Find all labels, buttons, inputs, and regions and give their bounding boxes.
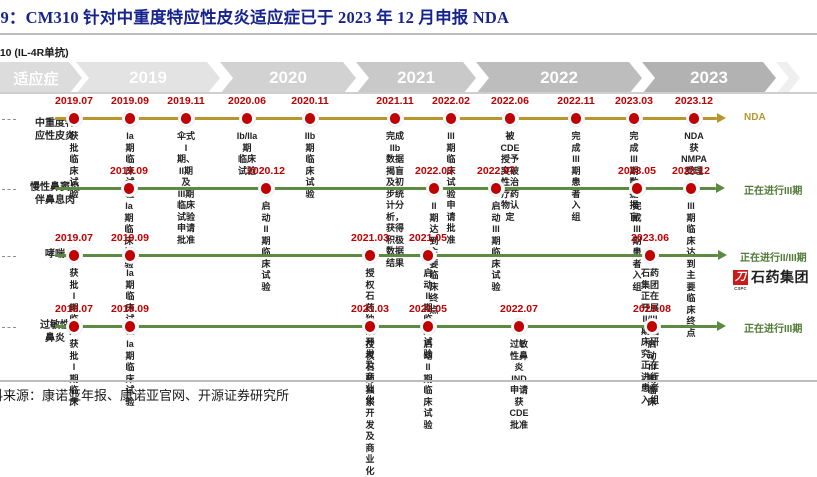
source-note: 料来源：康诺亚年报、康诺亚官网、开源证券研究所 — [0, 385, 289, 404]
milestone-description-line: 启动II期 — [423, 339, 432, 385]
milestone-description-line: NDA获 — [681, 131, 707, 154]
milestone-node[interactable]: 2020.12启动II期临床试验 — [258, 180, 275, 197]
cspc-wordmark: 石药集团 — [751, 267, 809, 287]
milestone-node[interactable]: 2021.03授权石药独家开发及商业化 — [362, 247, 379, 264]
milestone-description-line: 及商业化 — [365, 431, 374, 477]
milestone-description-line: 临床试验 — [423, 385, 432, 431]
milestone-date: 2021.05 — [409, 303, 447, 315]
row-label: 慢性鼻窦炎伴鼻息肉 — [22, 181, 88, 207]
milestone-description-line: 试验申请批准 — [177, 212, 195, 247]
milestone-node[interactable]: 2022.11完成III期患者入组 — [568, 110, 585, 127]
row-status-label: 正在进行III期 — [744, 182, 802, 197]
row-connector-dash — [2, 189, 16, 190]
milestone-date: 2022.02 — [432, 95, 470, 107]
milestone-description: 完成III期患者入组 — [571, 131, 580, 223]
milestone-date: 2019.09 — [110, 165, 148, 177]
milestone-date: 2023.06 — [631, 232, 669, 244]
milestone-description-line: III期临床达到 — [686, 201, 695, 270]
milestone-node[interactable]: 2019.07获批临床试验 — [66, 110, 83, 127]
milestone-date: 2023.03 — [615, 95, 653, 107]
milestone-node[interactable]: 2020.11IIb期临床试验 — [302, 110, 319, 127]
milestone-description: 完成IIb数据揭盲及初步统计分析，获得积极数据结果 — [386, 131, 404, 269]
cspc-mark-glyph: 刀 — [735, 272, 746, 283]
year-label: 2021 — [397, 68, 435, 88]
milestone-node[interactable]: 2022.06被CDE授予突破性治疗药物认定 — [502, 110, 519, 127]
year-chevron-2019: 2019 — [76, 62, 220, 94]
milestone-date: 2022.07 — [500, 303, 538, 315]
cspc-mark-caption: CSPC — [733, 286, 748, 291]
year-band-baseline — [0, 92, 817, 94]
milestone-description-line: 授权石药 — [365, 339, 374, 385]
row-connector-dash — [2, 327, 16, 328]
milestone-date: 2022.03 — [415, 165, 453, 177]
row-axis-line — [55, 325, 717, 328]
milestone-description: 过敏性鼻炎IND申请获CDE 批准 — [510, 339, 529, 431]
year-chevron-2020: 2020 — [220, 62, 356, 94]
milestone-description-line: 启动III期临床 — [647, 339, 656, 408]
milestone-date: 2021.03 — [351, 303, 389, 315]
milestone-date: 2019.09 — [111, 95, 149, 107]
milestone-description-line: 伞式I期、II期 — [177, 131, 195, 177]
milestone-node[interactable]: 2021.05启动II期临床试验 — [420, 247, 437, 264]
row-connector-dash — [2, 119, 16, 120]
milestone-description-line: 获得积极数据结果 — [386, 223, 404, 269]
title-divider — [0, 33, 817, 35]
milestone-description-line: 启动II期 — [261, 201, 270, 247]
row-axis-line — [55, 187, 716, 190]
milestone-node[interactable]: 2023.06石药集团正在开展II/III期临床研究，正在进行患者入组 — [642, 247, 659, 264]
milestone-node[interactable]: 2019.07获批I期临床 — [66, 247, 83, 264]
indication-header-chevron: 适应症 — [0, 62, 82, 94]
milestone-date: 2019.07 — [55, 232, 93, 244]
milestone-description-line: 主要临床终点 — [686, 270, 695, 339]
milestone-date: 2019.09 — [111, 232, 149, 244]
row-axis-arrowhead — [718, 250, 727, 260]
row-status-label: NDA — [744, 112, 766, 123]
milestone-node[interactable]: 2023.08启动III期临床 — [644, 318, 661, 335]
figure-canvas: 29：CM310 针对中重度特应性皮炎适应症已于 2023 年 12 月申报 N… — [0, 0, 817, 407]
milestone-date: 2023.08 — [633, 303, 671, 315]
milestone-node[interactable]: 2023.03完成III期数据揭盲 — [626, 110, 643, 127]
milestone-node[interactable]: 2023.12NDA获NMPA受理 — [686, 110, 703, 127]
row-connector-dash — [2, 256, 16, 257]
milestone-date: 2023.12 — [675, 95, 713, 107]
milestone-date: 2021.05 — [409, 232, 447, 244]
milestone-node[interactable]: 2022.07启动III期临床试验 — [488, 180, 505, 197]
row-status-label: 正在进行II/III期 — [740, 249, 807, 264]
milestone-date: 2019.07 — [55, 95, 93, 107]
milestone-node[interactable]: 2022.07过敏性鼻炎IND申请获CDE 批准 — [511, 318, 528, 335]
milestone-description-line: 过敏性鼻炎IND — [510, 339, 529, 385]
indication-header-label: 适应症 — [13, 68, 58, 89]
milestone-description-line: Ib/IIa期 — [237, 131, 258, 154]
row-label-line2: 伴鼻息肉 — [22, 194, 88, 207]
milestone-date: 2022.07 — [477, 165, 515, 177]
milestone-date: 2020.12 — [247, 165, 285, 177]
milestone-node[interactable]: 2021.03授权石药独家开发及商业化 — [362, 318, 379, 335]
milestone-description-line: 独家开发 — [365, 385, 374, 431]
year-label: 2022 — [540, 68, 578, 88]
milestone-description-line: IIb期临 — [305, 131, 316, 166]
milestone-description: 启动III期临床试验 — [491, 201, 500, 293]
milestone-node[interactable]: 2019.09Ia期临床试验 — [122, 318, 139, 335]
milestone-node[interactable]: 2019.09Ia期临床试验 — [121, 180, 138, 197]
milestone-description: 授权石药独家开发及商业化 — [365, 339, 374, 477]
cspc-logo: 刀CSPC石药集团 — [733, 267, 809, 287]
milestone-node[interactable]: 2023.12III期临床达到主要临床终点 — [683, 180, 700, 197]
milestone-description-line: Ia期临 — [125, 131, 134, 166]
milestone-node[interactable]: 2019.07获批I期临床 — [66, 318, 83, 335]
year-chevron-band: 适应症20192020202120222023 — [0, 62, 817, 94]
year-chevron-2023: 2023 — [642, 62, 776, 94]
milestone-node[interactable]: 2019.09Ia期临床试验 — [122, 110, 139, 127]
row-axis-arrowhead — [716, 183, 725, 193]
milestone-description: 启动III期临床 — [647, 339, 656, 408]
milestone-date: 2022.11 — [557, 95, 594, 107]
milestone-description: III期临床达到主要临床终点 — [686, 201, 695, 339]
milestone-date: 2021.11 — [376, 95, 413, 107]
year-label: 2023 — [690, 68, 728, 88]
milestone-date: 2019.07 — [55, 303, 93, 315]
milestone-date: 2019.11 — [167, 95, 204, 107]
milestone-date: 2022.06 — [491, 95, 529, 107]
year-chevron-2022: 2022 — [476, 62, 642, 94]
milestone-date: 2020.06 — [228, 95, 266, 107]
drug-label: 310 (IL-4R单抗) — [0, 45, 69, 60]
milestone-node[interactable]: 2020.06Ib/IIa期临床试验 — [239, 110, 256, 127]
milestone-date: 2023.05 — [618, 165, 656, 177]
milestone-node[interactable]: 2019.09Ia期临床试验 — [122, 247, 139, 264]
timeline-row-4: 过敏性鼻炎2019.07获批I期临床2019.09Ia期临床试验2021.03授… — [0, 0, 817, 1]
year-chevron-2021: 2021 — [356, 62, 476, 94]
milestone-node[interactable]: 2022.02III期临床试验申请批准 — [443, 110, 460, 127]
milestone-date: 2020.11 — [291, 95, 328, 107]
milestone-description-line: 完成III期 — [571, 131, 580, 177]
milestone-date: 2021.03 — [351, 232, 389, 244]
cspc-mark-icon: 刀CSPC — [733, 270, 748, 285]
milestone-description-line: 完成IIb数据揭盲 — [386, 131, 404, 177]
year-band-tail-arrow — [776, 62, 800, 94]
milestone-node[interactable]: 2023.05完成III期患者入组 — [629, 180, 646, 197]
year-label: 2019 — [129, 68, 167, 88]
footer-divider — [0, 380, 817, 382]
milestone-description-line: 获批临 — [69, 131, 78, 166]
milestone-description-line: III期临床试 — [446, 131, 455, 189]
milestone-description-line: 申请获CDE 批准 — [510, 385, 529, 431]
milestone-description-line: Ia期临 — [124, 201, 133, 236]
milestone-description-line: Ia期临 — [125, 339, 134, 374]
milestone-description-line: 获批I期 — [69, 339, 78, 385]
row-axis-line — [55, 254, 718, 257]
milestone-description-line: 患者入组 — [571, 177, 580, 223]
milestone-date: 2019.09 — [111, 303, 149, 315]
milestone-description: 启动II期临床试验 — [261, 201, 270, 293]
milestone-description-line: 及初步统计分析， — [386, 177, 404, 223]
milestone-date: 2023.12 — [672, 165, 710, 177]
milestone-description-line: 及 III期临床 — [177, 177, 195, 212]
milestone-node[interactable]: 2019.11伞式I期、II期及 III期临床试验申请批准 — [178, 110, 195, 127]
milestone-description: 被CDE授予突破性治疗药物认定 — [501, 131, 520, 223]
milestone-description-line: 床试验 — [305, 166, 316, 201]
milestone-description-line: Ia期临 — [125, 268, 134, 303]
year-label: 2020 — [269, 68, 307, 88]
milestone-description: 启动II期临床试验 — [423, 339, 432, 431]
milestone-description-line: 启动III期 — [491, 201, 500, 247]
row-status-label: 正在进行III期 — [744, 320, 802, 335]
milestone-node[interactable]: 2021.11完成IIb数据揭盲及初步统计分析，获得积极数据结果 — [387, 110, 404, 127]
milestone-node[interactable]: 2021.05启动II期临床试验 — [420, 318, 437, 335]
milestone-node[interactable]: 2022.03II期达到主要临床终点 — [426, 180, 443, 197]
milestone-description-line: 验申请批准 — [446, 189, 455, 247]
row-axis-arrowhead — [717, 113, 726, 123]
figure-title: 29：CM310 针对中重度特应性皮炎适应症已于 2023 年 12 月申报 N… — [0, 4, 509, 28]
row-axis-arrowhead — [717, 321, 726, 331]
